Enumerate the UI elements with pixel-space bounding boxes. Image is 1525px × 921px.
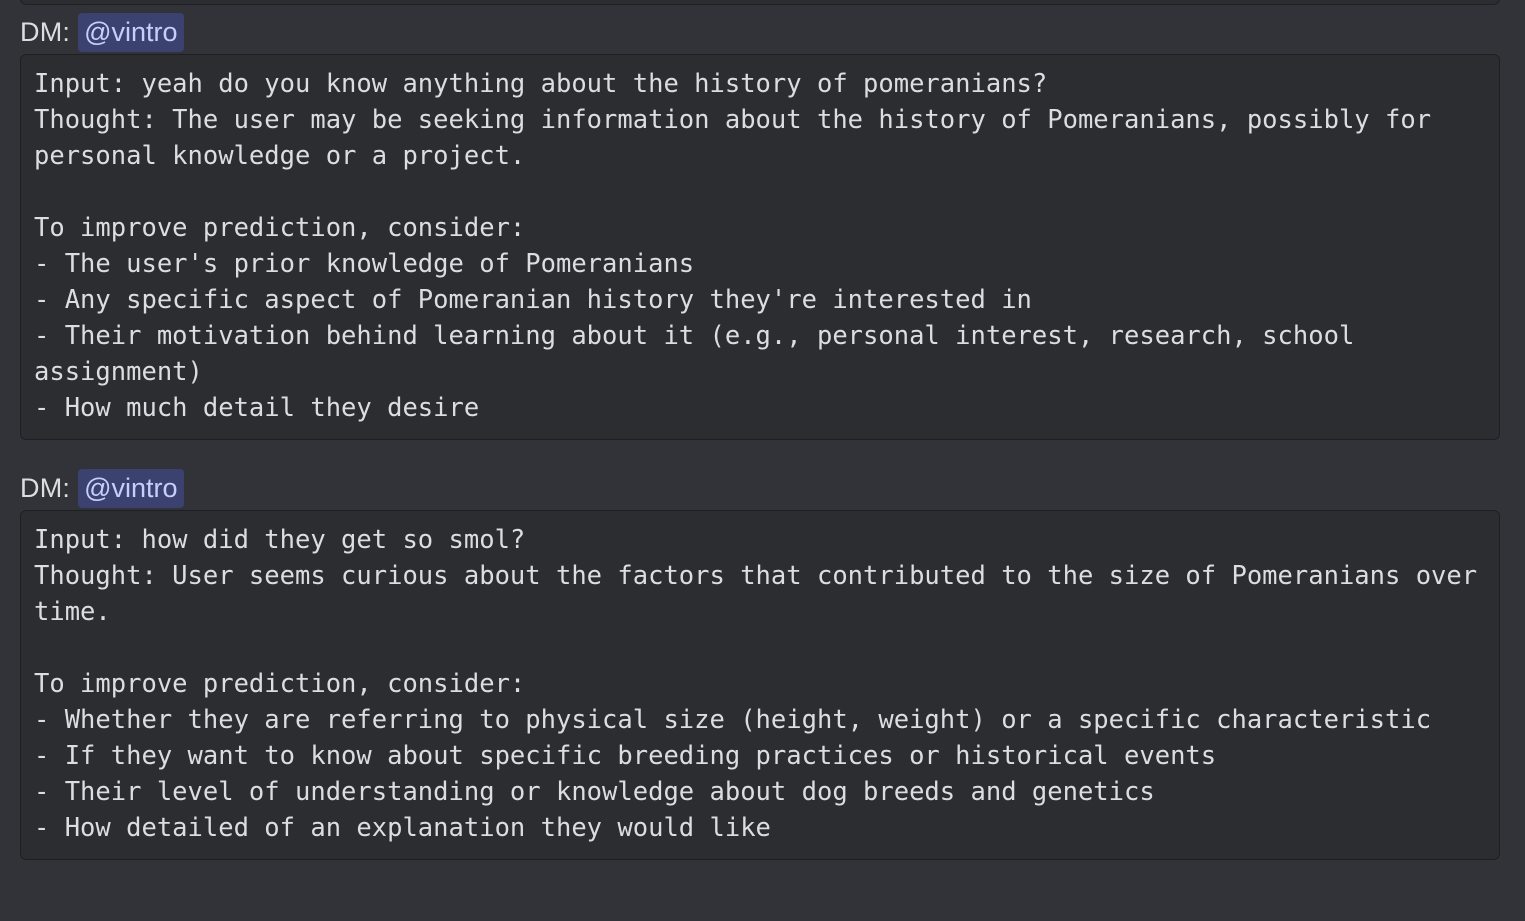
message-group-1: DM: @vintro Input: yeah do you know anyt… <box>0 10 1525 440</box>
code-block-1: Input: yeah do you know anything about t… <box>20 54 1500 440</box>
code-block-2: Input: how did they get so smol? Thought… <box>20 510 1500 860</box>
message-group-2: DM: @vintro Input: how did they get so s… <box>0 466 1525 860</box>
previous-message-codeblock-partial <box>20 0 1500 5</box>
chat-message-scroll-area[interactable]: DM: @vintro Input: yeah do you know anyt… <box>0 0 1525 921</box>
dm-label: DM: <box>20 472 70 504</box>
message-header-1: DM: @vintro <box>0 10 1525 54</box>
dm-label: DM: <box>20 16 70 48</box>
message-header-2: DM: @vintro <box>0 466 1525 510</box>
user-mention-vintro[interactable]: @vintro <box>78 13 183 52</box>
code-block-1-content: Input: yeah do you know anything about t… <box>34 66 1486 426</box>
user-mention-vintro[interactable]: @vintro <box>78 469 183 508</box>
code-block-2-content: Input: how did they get so smol? Thought… <box>34 522 1486 846</box>
